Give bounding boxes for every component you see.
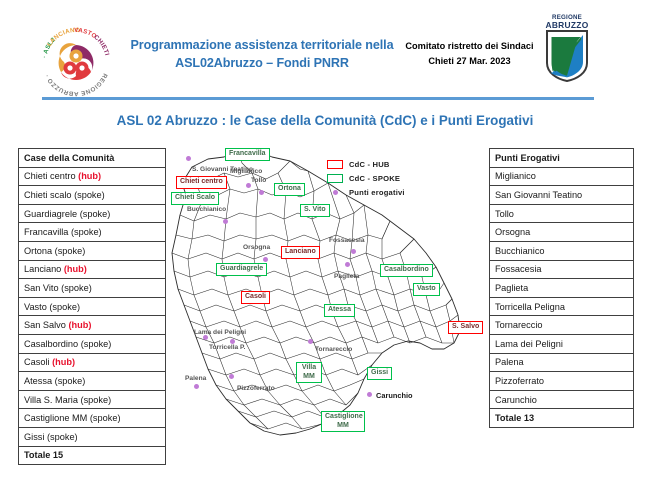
cdc-row-6: San Vito (spoke) (19, 279, 166, 298)
table-row: Lama dei Peligni (490, 334, 634, 353)
map-label-palena: Palena (185, 375, 206, 382)
table-row: Torricella Peligna (490, 297, 634, 316)
cdc-role-1: (spoke) (74, 190, 105, 200)
punto-erogativo-dot (223, 219, 228, 224)
header-divider (42, 97, 594, 100)
legend-label-spoke: CdC - SPOKE (349, 174, 400, 183)
cdc-total: Totale 15 (19, 446, 166, 465)
map-spoke-gissi: Gissi (367, 367, 392, 380)
cdc-row-2: Guardiagrele (spoke) (19, 204, 166, 223)
map-label-paglieta: Paglieta (334, 273, 359, 280)
map-label-miglianico: Miglianico (230, 168, 262, 175)
slide-root: · ASL2 LANCIANO VASTO CHIETI REGIONE ABR… (0, 0, 650, 488)
table-row: Carunchio (490, 390, 634, 409)
map-label-fossacesia: Fossacesia (329, 237, 365, 244)
cdc-row-1: Chieti scalo (spoke) (19, 186, 166, 205)
table-row: Gissi (spoke) (19, 427, 166, 446)
legend-label-hub: CdC - HUB (349, 160, 390, 169)
cdc-role-13: (spoke) (90, 413, 121, 423)
cdc-row-14: Gissi (spoke) (19, 427, 166, 446)
table-row: Tornareccio (490, 316, 634, 335)
table-total-row: Totale 13 (490, 409, 634, 428)
pe-row-8: Tornareccio (490, 316, 634, 335)
page-title: ASL 02 Abruzzo : le Case della Comunità … (0, 113, 650, 128)
pe-row-4: Bucchianico (490, 241, 634, 260)
map-legend: CdC - HUB CdC - SPOKE Punti erogativi (327, 158, 442, 198)
cdc-row-0: Chieti centro (hub) (19, 167, 166, 186)
case-della-comunita-table: Case della Comunità Chieti centro (hub) … (18, 148, 166, 465)
cdc-name-3: Francavilla (24, 227, 68, 237)
map-spoke-atessa: Atessa (324, 304, 355, 317)
map-spoke-ortona: Ortona (274, 183, 305, 196)
table-row: Atessa (spoke) (19, 372, 166, 391)
hub-square-icon (327, 160, 343, 169)
table-row: Miglianico (490, 167, 634, 186)
map-hub-chieti-centro: Chieti centro (176, 176, 227, 189)
regione-logo-bottom: ABRUZZO (541, 22, 593, 30)
cdc-name-14: Gissi (24, 432, 44, 442)
svg-text:CHIETI: CHIETI (92, 34, 110, 57)
table-row: Casalbordino (spoke) (19, 334, 166, 353)
punto-erogativo-dot (308, 339, 313, 344)
cdc-row-8: San Salvo (hub) (19, 316, 166, 335)
table-row: Ortona (spoke) (19, 241, 166, 260)
punto-erogativo-dot (203, 335, 208, 340)
cdc-name-4: Ortona (24, 246, 52, 256)
map-label-tornareccio: Tornareccio (315, 346, 352, 353)
table-row: San Salvo (hub) (19, 316, 166, 335)
cdc-row-9: Casalbordino (spoke) (19, 334, 166, 353)
cdc-role-2: (spoke) (80, 209, 111, 219)
punto-erogativo-dot (367, 392, 372, 397)
table-row: Francavilla (spoke) (19, 223, 166, 242)
table-row: Tollo (490, 204, 634, 223)
map-spoke-villa-mm: Villa MM (296, 362, 322, 383)
map-label-carunchio: Carunchio (376, 391, 413, 400)
cdc-name-11: Atessa (24, 376, 52, 386)
table-row: San Vito (spoke) (19, 279, 166, 298)
pe-row-0: Miglianico (490, 167, 634, 186)
map-label-torricella-peligna: Torricella P. (209, 344, 245, 351)
map-label-lama-dei-peligni: Lama dei Peligni (194, 329, 246, 336)
cdc-role-8: (hub) (68, 320, 91, 330)
cdc-name-13: Castiglione MM (24, 413, 87, 423)
cdc-role-5: (hub) (64, 264, 87, 274)
cdc-name-7: Vasto (24, 302, 47, 312)
header-subtitle: Comitato ristretto dei Sindaci Chieti 27… (402, 39, 537, 69)
table-row: Palena (490, 353, 634, 372)
table-row: Chieti centro (hub) (19, 167, 166, 186)
legend-label-punti: Punti erogativi (349, 188, 405, 197)
regione-logo-wordmark: REGIONE ABRUZZO (541, 14, 593, 29)
punto-erogativo-dot (263, 257, 268, 262)
legend-item-hub: CdC - HUB (327, 158, 442, 171)
cdc-name-5: Lanciano (24, 264, 61, 274)
table-total-row: Totale 15 (19, 446, 166, 465)
map-spoke-guardiagrele: Guardiagrele (216, 263, 267, 276)
map-label-orsogna: Orsogna (243, 244, 270, 251)
table-header-row: Punti Erogativi (490, 149, 634, 168)
cdc-name-8: San Salvo (24, 320, 66, 330)
map-label-bucchianico: Bucchianico (187, 206, 226, 213)
cdc-row-5: Lanciano (hub) (19, 260, 166, 279)
pe-row-9: Lama dei Peligni (490, 334, 634, 353)
cdc-role-0: (hub) (78, 171, 101, 181)
table-row: Lanciano (hub) (19, 260, 166, 279)
map-spoke-castiglione-mm: Castiglione MM (321, 411, 365, 432)
cdc-role-11: (spoke) (55, 376, 86, 386)
cdc-row-10: Casoli (hub) (19, 353, 166, 372)
cdc-role-14: (spoke) (47, 432, 78, 442)
cdc-role-4: (spoke) (55, 246, 86, 256)
cdc-role-9: (spoke) (81, 339, 112, 349)
pe-row-6: Paglieta (490, 279, 634, 298)
table-row: Castiglione MM (spoke) (19, 409, 166, 428)
punto-erogativo-dot (351, 249, 356, 254)
table-row: Bucchianico (490, 241, 634, 260)
table-row: Villa S. Maria (spoke) (19, 390, 166, 409)
cdc-row-13: Castiglione MM (spoke) (19, 409, 166, 428)
cdc-name-10: Casoli (24, 357, 50, 367)
table-row: Paglieta (490, 279, 634, 298)
table-row: Orsogna (490, 223, 634, 242)
pe-row-12: Carunchio (490, 390, 634, 409)
pe-row-3: Orsogna (490, 223, 634, 242)
legend-item-spoke: CdC - SPOKE (327, 172, 442, 185)
pe-table-header: Punti Erogativi (490, 149, 634, 168)
pe-row-1: San Giovanni Teatino (490, 186, 634, 205)
table-row: Guardiagrele (spoke) (19, 204, 166, 223)
cdc-table-header: Case della Comunità (19, 149, 166, 168)
header-title-line1: Programmazione assistenza territoriale n… (124, 36, 400, 54)
cdc-role-7: (spoke) (49, 302, 80, 312)
table-row: Chieti scalo (spoke) (19, 186, 166, 205)
pe-row-10: Palena (490, 353, 634, 372)
legend-item-punti: Punti erogativi (327, 186, 442, 199)
map-spoke-s-vito: S. Vito (300, 204, 330, 217)
table-row: San Giovanni Teatino (490, 186, 634, 205)
cdc-row-12: Villa S. Maria (spoke) (19, 390, 166, 409)
punto-erogativo-dot (345, 262, 350, 267)
slide-header: · ASL2 LANCIANO VASTO CHIETI REGIONE ABR… (0, 0, 650, 100)
cdc-row-3: Francavilla (spoke) (19, 223, 166, 242)
regione-abruzzo-logo: REGIONE ABRUZZO (541, 14, 593, 88)
header-title: Programmazione assistenza territoriale n… (124, 36, 400, 72)
punto-erogativo-dot (186, 156, 191, 161)
map-spoke-francavilla: Francavilla (225, 148, 270, 161)
table-row: Vasto (spoke) (19, 297, 166, 316)
punto-erogativo-dot (229, 374, 234, 379)
header-title-line2: ASL02Abruzzo – Fondi PNRR (124, 54, 400, 72)
cdc-name-6: San Vito (24, 283, 59, 293)
map-label-pizzoferrato: Pizzoferrato (237, 385, 275, 392)
punti-erogativi-table: Punti Erogativi Miglianico San Giovanni … (489, 148, 634, 428)
cdc-role-3: (spoke) (71, 227, 102, 237)
pe-row-11: Pizzoferrato (490, 372, 634, 391)
pe-row-2: Tollo (490, 204, 634, 223)
cdc-name-2: Guardiagrele (24, 209, 77, 219)
table-row: Casoli (hub) (19, 353, 166, 372)
regione-abruzzo-shield-icon (541, 29, 593, 83)
pe-row-5: Fossacesia (490, 260, 634, 279)
table-row: Fossacesia (490, 260, 634, 279)
cdc-role-12: (spoke) (81, 395, 112, 405)
cdc-role-6: (spoke) (61, 283, 92, 293)
table-row: Pizzoferrato (490, 372, 634, 391)
pe-row-7: Torricella Peligna (490, 297, 634, 316)
map-hub-s-salvo: S. Salvo (448, 321, 483, 334)
punto-erogativo-dot (194, 384, 199, 389)
map-hub-casoli: Casoli (241, 291, 270, 304)
cdc-row-7: Vasto (spoke) (19, 297, 166, 316)
asl2-lanciano-vasto-chieti-logo: · ASL2 LANCIANO VASTO CHIETI REGIONE ABR… (36, 22, 116, 102)
cdc-row-11: Atessa (spoke) (19, 372, 166, 391)
map-spoke-vasto: Vasto (413, 283, 440, 296)
pe-total: Totale 13 (490, 409, 634, 428)
cdc-name-12: Villa S. Maria (24, 395, 78, 405)
map-spoke-casalbordino: Casalbordino (380, 264, 433, 277)
map-hub-lanciano: Lanciano (281, 246, 320, 259)
spoke-square-icon (327, 174, 343, 183)
table-header-row: Case della Comunità (19, 149, 166, 168)
cdc-name-0: Chieti centro (24, 171, 76, 181)
punto-erogativo-dot (259, 190, 264, 195)
cdc-row-4: Ortona (spoke) (19, 241, 166, 260)
header-subtitle-line1: Comitato ristretto dei Sindaci (402, 39, 537, 54)
map-label-tollo: Tollo (251, 177, 266, 184)
header-subtitle-line2: Chieti 27 Mar. 2023 (402, 54, 537, 69)
cdc-role-10: (hub) (52, 357, 75, 367)
purple-dot-icon (327, 190, 343, 195)
cdc-name-1: Chieti scalo (24, 190, 72, 200)
cdc-name-9: Casalbordino (24, 339, 78, 349)
map-spoke-chieti-scalo: Chieti Scalo (171, 192, 219, 205)
